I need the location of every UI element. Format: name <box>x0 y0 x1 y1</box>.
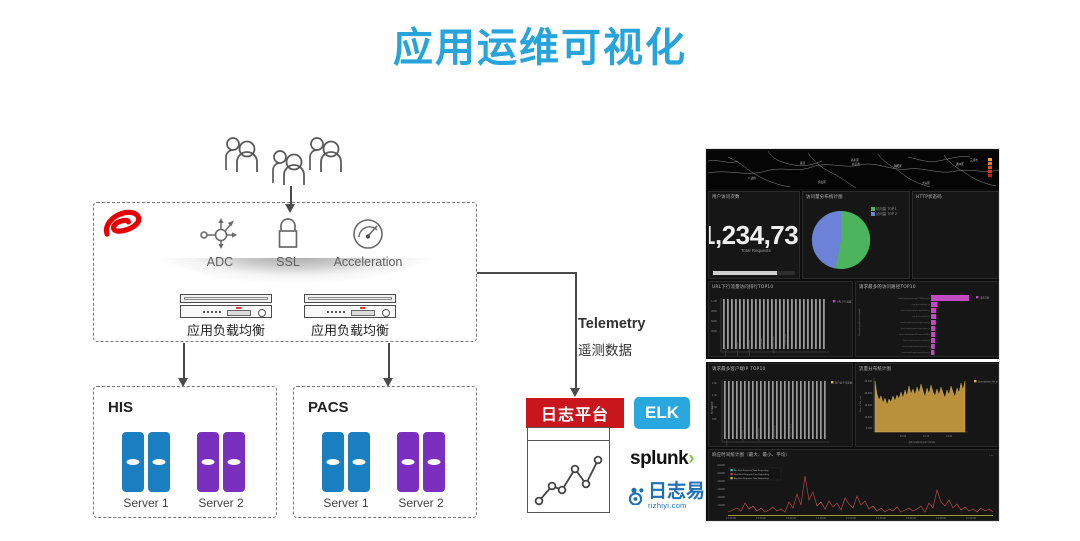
server-blade <box>348 432 370 492</box>
svg-text:/static/web/main/script/index.: /static/web/main/script/index.js <box>900 327 930 330</box>
svg-text:/static/js/app.min.js: /static/js/app.min.js <box>724 348 727 356</box>
appliance-slot <box>227 310 251 316</box>
server-label: Server 2 <box>194 496 248 510</box>
svg-text:Max Real Response Time Request: Max Real Response Time Requesting <box>734 473 770 476</box>
svg-text:/cgi-bin/script/lib_js: /cgi-bin/script/lib_js <box>912 315 930 318</box>
appliance-leds <box>203 311 223 313</box>
panel-title: 用户访问次数 <box>709 192 799 200</box>
svg-text:/static/fonts/f.woff: /static/fonts/f.woff <box>772 336 775 354</box>
svg-text:三河市: 三河市 <box>970 158 978 162</box>
users-group-icon <box>308 136 352 181</box>
svg-text:/index.html: /index.html <box>784 334 787 345</box>
svg-text:14:30: 14:30 <box>946 435 953 438</box>
svg-text:14:15: 14:15 <box>923 435 930 438</box>
svg-text:10.12.33.104: 10.12.33.104 <box>725 438 727 446</box>
rizhiyi-wordmark: 日志易 <box>648 482 705 501</box>
svg-text:/api/v1/query: /api/v1/query <box>760 338 763 351</box>
radware-swirl-logo-icon <box>99 208 145 242</box>
svg-text:13:50:00: 13:50:00 <box>756 517 766 520</box>
rizhiyi-logo: 日志易 rizhiyi.com <box>628 482 705 510</box>
page-title: 应用运维可视化 <box>0 22 1080 74</box>
svg-text:请求次数: 请求次数 <box>980 295 990 299</box>
map-panel[interactable]: 八达岭 延庆 昌平区 北京市 朝阳区 房山区 通州区 三河市 大兴区 <box>708 151 999 189</box>
svg-text:192.168.1.24: 192.168.1.24 <box>757 428 759 441</box>
svg-text:15:00:00: 15:00:00 <box>966 517 976 520</box>
log-platform-badge[interactable]: 日志平台 <box>526 398 624 428</box>
svg-text:大兴区: 大兴区 <box>922 181 930 185</box>
server-group-his-1: Server 1 <box>119 432 173 510</box>
elk-badge[interactable]: ELK <box>634 397 690 429</box>
bytes-area-legend: Cumulative_file_siz… <box>974 380 999 383</box>
map-legend <box>988 158 992 177</box>
svg-text:/images/logo.png: /images/logo.png <box>748 340 750 356</box>
server-icon <box>394 432 448 492</box>
zone-title-pacs: PACS <box>308 399 349 416</box>
users-group-icon <box>224 136 268 181</box>
appliance-bottom-unit <box>304 305 396 318</box>
svg-text:14:20:00: 14:20:00 <box>846 517 856 520</box>
appliance-top-unit <box>304 294 396 303</box>
svg-text:300k: 300k <box>711 330 718 333</box>
url-bar-chart: 1.2M900k 600k300k <box>709 290 853 356</box>
svg-text:通州区: 通州区 <box>956 162 964 166</box>
request-path-panel[interactable]: 请求最多的访问路径TOP10 /static/web/www/img/TOP-B… <box>855 281 999 357</box>
svg-text:客户端 IP 请求数: 客户端 IP 请求数 <box>835 380 853 384</box>
appliance-bottom-unit <box>180 305 272 318</box>
svg-text:/static/web/www/img/TOP-Brand.: /static/web/www/img/TOP-Brand.js <box>897 297 930 300</box>
appliance-leds <box>327 311 347 313</box>
appliance-status-led <box>236 307 241 309</box>
pie-legend: 访问量 TOP 1 访问量 TOP 2 <box>871 206 897 216</box>
svg-text:20,000: 20,000 <box>864 392 872 395</box>
svg-text:10.12.33.117: 10.12.33.117 <box>741 430 743 443</box>
server-blade <box>397 432 419 492</box>
appliance-status-led <box>360 307 365 309</box>
svg-text:15,000: 15,000 <box>864 404 872 407</box>
server-label: Server 1 <box>119 496 173 510</box>
legend-label: 访问量 TOP 2 <box>876 212 897 216</box>
server-blade <box>423 432 445 492</box>
server-icon <box>194 432 248 492</box>
svg-text:/static/web/main/PI/source/ESP: /static/web/main/PI/source/ESP.js <box>899 333 930 336</box>
acceleration-gauge-icon <box>313 216 423 252</box>
svg-text:600k: 600k <box>711 320 718 323</box>
svg-text:14:40:00: 14:40:00 <box>906 517 916 520</box>
line-chart-window-icon <box>527 427 610 513</box>
panel-title: 流量分布统计图 <box>856 364 998 372</box>
appliance-label: 应用负载均衡 <box>180 320 272 339</box>
svg-text:14:30:00: 14:30:00 <box>876 517 886 520</box>
response-time-panel[interactable]: 响应时间统计图（最大、最小、平均） 6000050000 4000030000 … <box>708 449 999 521</box>
pie-panel[interactable]: 访问量分布统计图 访问量 TOP 1 访问量 TOP 2 <box>802 191 910 279</box>
url-bar-legend: URL下行流量字节数 <box>833 299 853 303</box>
telemetry-label-en: Telemetry <box>578 316 645 332</box>
server-label: Server 2 <box>394 496 448 510</box>
appliance-label: 应用负载均衡 <box>304 320 396 339</box>
http-status-panel[interactable]: HTTP状态码 <box>912 191 999 279</box>
svg-text:/static/web/main/script/setup.: /static/web/main/script/setup.js <box>900 321 930 324</box>
infra-to-pacs-arrow-line <box>388 343 390 380</box>
server-label: Server 1 <box>319 496 373 510</box>
svg-text:10,000: 10,000 <box>864 416 872 419</box>
panel-title: 请求最多的访问路径TOP10 <box>856 282 998 290</box>
server-group-his-2: Server 2 <box>194 432 248 510</box>
big-number-value: 1,234,730 <box>708 220 800 251</box>
chart-window-plot <box>528 441 608 513</box>
svg-text:20000: 20000 <box>717 496 725 499</box>
svg-text:14:50:00: 14:50:00 <box>936 517 946 520</box>
svg-text:900k: 900k <box>711 310 718 313</box>
appliance-top-unit <box>180 294 272 303</box>
svg-text:延庆: 延庆 <box>800 161 806 165</box>
total-requests-panel[interactable]: 用户访问次数 1,234,730 Total Requests <box>708 191 800 279</box>
server-blade <box>223 432 245 492</box>
svg-text:500: 500 <box>712 418 717 421</box>
telemetry-connector-horizontal <box>477 272 576 274</box>
svg-text:10.12.33.201: 10.12.33.201 <box>789 424 791 437</box>
telemetry-connector-vertical <box>575 272 577 390</box>
slide-canvas: 应用运维可视化 <box>0 0 1080 541</box>
panel-title: URL下行流量访问排行TOP10 <box>709 282 852 290</box>
svg-text:14:00:00: 14:00:00 <box>786 517 796 520</box>
panel-title: 访问量分布统计图 <box>803 192 909 200</box>
server-group-pacs-1: Server 1 <box>319 432 373 510</box>
svg-text:朝阳区: 朝阳区 <box>894 164 902 168</box>
svg-text:/static/web/main/script/index.: /static/web/main/script/index.js <box>900 309 930 312</box>
request-path-legend: 请求次数 <box>976 295 990 299</box>
chart-window-titlebar <box>528 428 609 441</box>
horizontal-scrollbar[interactable] <box>713 271 795 275</box>
svg-text:10000: 10000 <box>717 504 725 507</box>
svg-text:1.5k: 1.5k <box>712 394 718 397</box>
splunk-wordmark: splunk <box>630 448 688 469</box>
response-time-line-chart: 6000050000 4000030000 2000010000 Min Rea… <box>709 458 999 520</box>
svg-text:/static/web/main/script/lib_js: /static/web/main/script/lib_js <box>903 339 930 342</box>
svg-text:40000: 40000 <box>717 480 725 483</box>
bytes-area-panel[interactable]: 流量分布统计图 25,00020,000 15,00010,000 5,000 … <box>855 363 999 447</box>
server-icon <box>119 432 173 492</box>
load-balancer-appliance: 应用负载均衡 <box>304 294 396 339</box>
svg-text:/cgi-bin/main/get.js: /cgi-bin/main/get.js <box>912 303 930 306</box>
svg-text:1.2M: 1.2M <box>711 300 717 303</box>
svg-text:5,000: 5,000 <box>866 427 873 430</box>
svg-text:2.0k: 2.0k <box>712 382 718 385</box>
svg-text:客户端请求数: 客户端请求数 <box>710 401 714 414</box>
client-ip-legend: 客户端 IP 请求数 <box>831 380 853 384</box>
svg-text:13:40:00: 13:40:00 <box>726 517 736 520</box>
big-number-caption: Total Requests <box>741 248 771 253</box>
svg-text:Cumulative_file_siz…: Cumulative_file_siz… <box>978 380 999 383</box>
traffic-distribution-area-chart: 25,00020,000 15,00010,000 5,000 14:0014:… <box>856 372 999 446</box>
splunk-chevron-icon: › <box>688 448 694 469</box>
client-ip-chart: 2.0k1.5k 1.0k500 <box>709 372 853 446</box>
client-ip-panel[interactable]: 请求最多客户端IP TOP10 2.0k1.5k 1.0k500 <box>708 363 853 447</box>
server-blade <box>322 432 344 492</box>
appliance-knob <box>382 309 390 317</box>
svg-text:/static/web/main/script/base.j: /static/web/main/script/base.js <box>901 351 930 354</box>
rizhiyi-domain: rizhiyi.com <box>648 501 705 510</box>
splunk-logo: splunk› <box>630 448 694 470</box>
url-bar-panel[interactable]: URL下行流量访问排行TOP10 1.2M900k 600k300k <box>708 281 853 357</box>
svg-text:北京市: 北京市 <box>852 162 860 166</box>
zone-title-his: HIS <box>108 399 133 416</box>
server-blade <box>148 432 170 492</box>
server-blade <box>122 432 144 492</box>
server-icon <box>319 432 373 492</box>
rizhiyi-mark-icon <box>628 487 645 505</box>
panel-title: 请求最多客户端IP TOP10 <box>709 364 852 372</box>
server-blade <box>197 432 219 492</box>
svg-text:14:10:00: 14:10:00 <box>816 517 826 520</box>
infra-to-his-arrow-line <box>183 343 185 380</box>
svg-text:Requesting Accessed path: Requesting Accessed path <box>858 308 861 336</box>
appliance-slot <box>351 310 375 316</box>
svg-text:昌平区: 昌平区 <box>851 158 859 162</box>
svg-text:25,000: 25,000 <box>864 380 872 383</box>
appliance-knob <box>258 309 266 317</box>
panel-separator <box>706 359 1000 362</box>
svg-text:房山区: 房山区 <box>818 180 826 184</box>
panel-menu-icon[interactable]: ⋯ <box>989 453 994 459</box>
telemetry-connector-arrow-head <box>570 388 580 397</box>
telemetry-label-cn: 遥测数据 <box>578 339 632 359</box>
svg-text:60000: 60000 <box>717 464 725 467</box>
legend-item: 访问量 TOP 2 <box>871 211 897 216</box>
panel-title: HTTP状态码 <box>913 192 998 200</box>
svg-text:Avg Real Response Time Request: Avg Real Response Time Requesting <box>734 477 769 480</box>
svg-text:Min Real Response Time Request: Min Real Response Time Requesting <box>734 469 769 472</box>
svg-text:/static/web/main/script/site_j: /static/web/main/script/site_js <box>902 345 930 348</box>
svg-text:八达岭: 八达岭 <box>748 176 756 180</box>
response-time-legend: Min Real Response Time Requesting Max Re… <box>729 468 781 480</box>
svg-text:172.16.8.90: 172.16.8.90 <box>773 426 775 438</box>
server-group-pacs-2: Server 2 <box>394 432 448 510</box>
svg-text:Sum of file_size: Sum of file_size <box>860 395 862 412</box>
svg-text:/static/css/main.css: /static/css/main.css <box>736 342 739 356</box>
load-balancer-appliance: 应用负载均衡 <box>180 294 272 339</box>
svg-text:50000: 50000 <box>717 472 725 475</box>
svg-text:14:00: 14:00 <box>900 435 907 438</box>
svg-text:30000: 30000 <box>717 488 725 491</box>
monitoring-dashboard[interactable]: 八达岭 延庆 昌平区 北京市 朝阳区 房山区 通州区 三河市 大兴区 <box>705 148 1000 522</box>
request-path-bar-chart: /static/web/www/img/TOP-Brand.js /cgi-bi… <box>856 290 999 356</box>
panel-title: 响应时间统计图（最大、最小、平均） <box>709 450 998 458</box>
svg-text:URL下行流量字节数: URL下行流量字节数 <box>837 299 853 303</box>
svg-text:@timestamp per minute: @timestamp per minute <box>909 441 936 444</box>
